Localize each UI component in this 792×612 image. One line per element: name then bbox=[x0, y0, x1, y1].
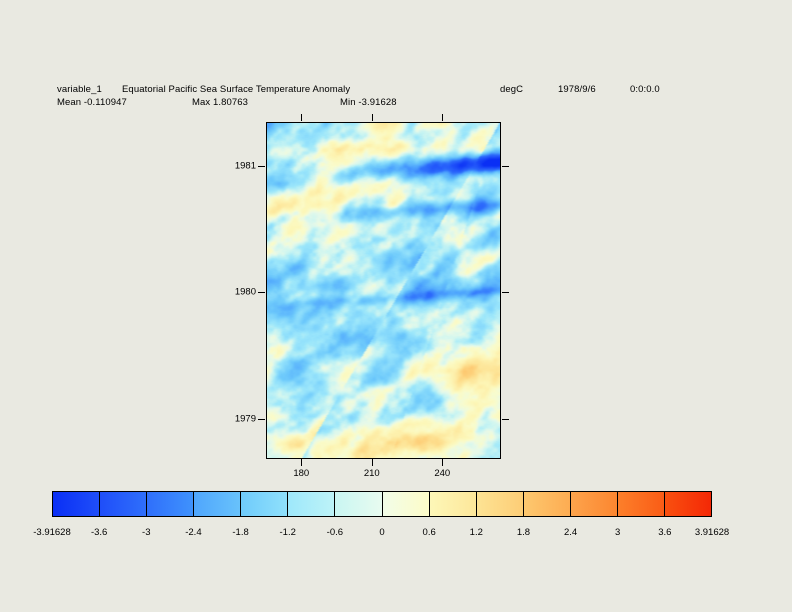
y-axis-tick bbox=[258, 292, 265, 293]
colorbar-segment bbox=[241, 492, 288, 516]
colorbar-tick-label: -1.2 bbox=[280, 527, 296, 538]
colorbar-tick-label: 2.4 bbox=[564, 527, 577, 538]
time-label: 0:0:0.0 bbox=[630, 84, 660, 95]
y-axis-tick bbox=[258, 166, 265, 167]
colorbar-segment bbox=[194, 492, 241, 516]
x-axis-tick-top bbox=[442, 114, 443, 121]
colorbar-segment bbox=[288, 492, 335, 516]
colorbar-tick-label: 0.6 bbox=[423, 527, 436, 538]
colorbar-segment bbox=[335, 492, 382, 516]
y-axis-tick-label: 1979 bbox=[218, 413, 256, 424]
x-axis-tick bbox=[442, 459, 443, 466]
mean-statistic-label: Mean -0.110947 bbox=[57, 97, 127, 108]
x-axis-tick-label: 240 bbox=[434, 468, 450, 479]
y-axis-tick-label: 1981 bbox=[218, 161, 256, 172]
y-axis-tick-label: 1980 bbox=[218, 287, 256, 298]
sst-anomaly-heatmap bbox=[267, 123, 500, 458]
colorbar-tick-label: -3.6 bbox=[91, 527, 107, 538]
units-label: degC bbox=[500, 84, 523, 95]
colorbar bbox=[52, 491, 712, 517]
figure-canvas: variable_1 Equatorial Pacific Sea Surfac… bbox=[0, 0, 792, 612]
colorbar-tick-label: -3.91628 bbox=[33, 527, 71, 538]
plot-title: Equatorial Pacific Sea Surface Temperatu… bbox=[122, 84, 350, 95]
colorbar-segment bbox=[477, 492, 524, 516]
colorbar-segment bbox=[524, 492, 571, 516]
x-axis-tick-label: 180 bbox=[293, 468, 309, 479]
colorbar-segment bbox=[53, 492, 100, 516]
colorbar-tick-label: 3.91628 bbox=[695, 527, 729, 538]
x-axis-tick bbox=[372, 459, 373, 466]
x-axis-tick-label: 210 bbox=[364, 468, 380, 479]
colorbar-tick-label: 0 bbox=[379, 527, 384, 538]
colorbar-segment bbox=[430, 492, 477, 516]
x-axis-tick-top bbox=[372, 114, 373, 121]
y-axis-tick-right bbox=[502, 419, 509, 420]
colorbar-tick-label: -3 bbox=[142, 527, 150, 538]
colorbar-segment bbox=[147, 492, 194, 516]
colorbar-segment bbox=[665, 492, 711, 516]
colorbar-tick-label: -2.4 bbox=[185, 527, 201, 538]
colorbar-tick-label: -0.6 bbox=[327, 527, 343, 538]
x-axis-tick-top bbox=[301, 114, 302, 121]
colorbar-tick-label: 1.8 bbox=[517, 527, 530, 538]
colorbar-tick-label: -1.8 bbox=[232, 527, 248, 538]
y-axis-tick-right bbox=[502, 292, 509, 293]
colorbar-segment bbox=[571, 492, 618, 516]
colorbar-tick-label: 3.6 bbox=[658, 527, 671, 538]
min-statistic-label: Min -3.91628 bbox=[340, 97, 397, 108]
colorbar-segment bbox=[100, 492, 147, 516]
x-axis-tick bbox=[301, 459, 302, 466]
date-label: 1978/9/6 bbox=[558, 84, 596, 95]
y-axis-tick-right bbox=[502, 166, 509, 167]
max-statistic-label: Max 1.80763 bbox=[192, 97, 248, 108]
colorbar-segment bbox=[383, 492, 430, 516]
colorbar-tick-label: 3 bbox=[615, 527, 620, 538]
variable-name-label: variable_1 bbox=[57, 84, 102, 95]
hovmoller-plot-area bbox=[266, 122, 501, 459]
colorbar-segment bbox=[618, 492, 665, 516]
y-axis-tick bbox=[258, 419, 265, 420]
colorbar-tick-label: 1.2 bbox=[470, 527, 483, 538]
